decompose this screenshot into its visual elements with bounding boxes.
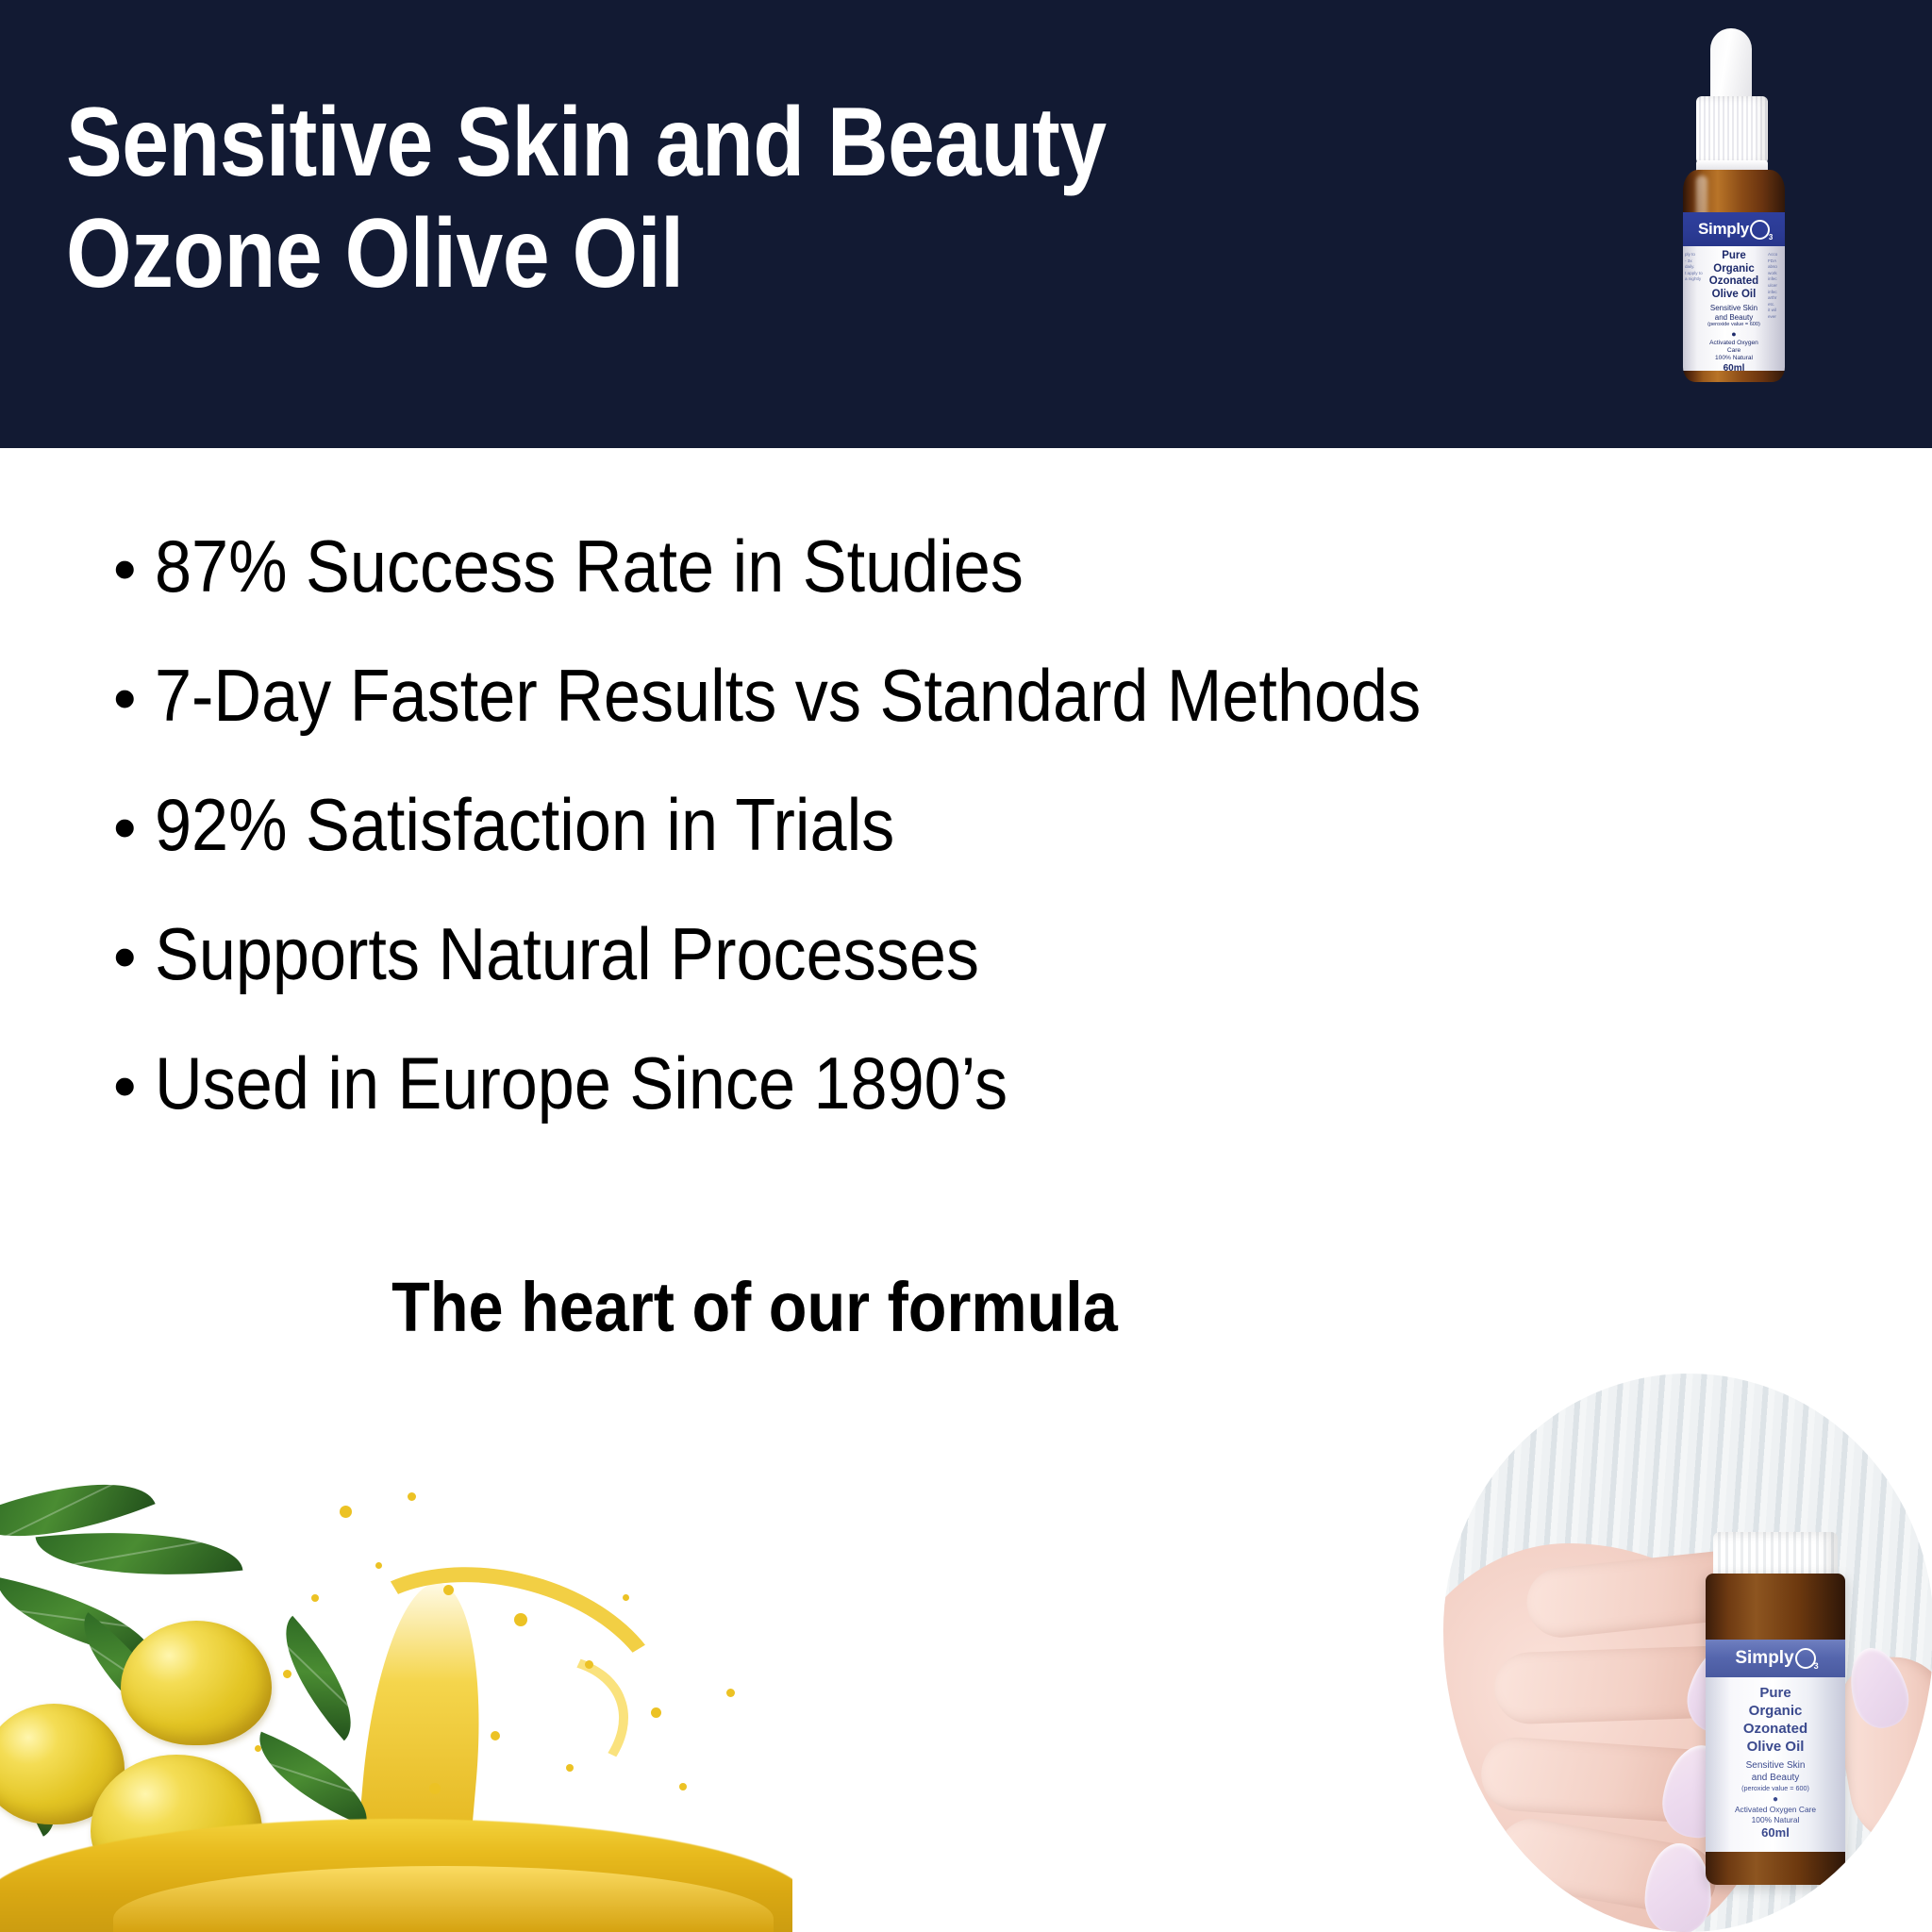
oil-droplet xyxy=(283,1670,291,1678)
oil-droplet xyxy=(443,1585,454,1595)
bottle-label: ply to - 3x daily. t apply to a nightly … xyxy=(1683,246,1785,371)
bullet-marker-icon: • xyxy=(113,657,155,740)
product-bottle-image: Simply 3 ply to - 3x daily. t apply to a… xyxy=(1638,28,1826,368)
dropper-cap xyxy=(1696,96,1768,164)
label-name-4: Olive Oil xyxy=(1704,289,1764,302)
small-brand-logo: Simply 3 xyxy=(1735,1648,1815,1669)
small-bottle-body: Simply 3 Pure Organic Ozonated Olive Oil… xyxy=(1706,1574,1845,1885)
label-side-text-left: ply to - 3x daily. t apply to a nightly xyxy=(1685,252,1703,283)
label-volume: 60ml xyxy=(1704,363,1764,375)
small-label-natural: 100% Natural xyxy=(1706,1815,1845,1825)
bullet-marker-icon: • xyxy=(113,1044,155,1127)
list-item: • Supports Natural Processes xyxy=(113,912,1811,1041)
small-bottle-brand-band: Simply 3 xyxy=(1706,1640,1845,1677)
small-label-volume: 60ml xyxy=(1706,1825,1845,1840)
ozone-o3-icon: 3 xyxy=(1750,220,1770,240)
oil-droplet xyxy=(651,1707,661,1718)
label-subtitle-1: Sensitive Skin xyxy=(1704,304,1764,313)
oil-droplet xyxy=(491,1731,500,1740)
list-item-label: Used in Europe Since 1890’s xyxy=(155,1041,1008,1124)
oil-droplet xyxy=(585,1660,593,1669)
small-label-divider-dot: ● xyxy=(1706,1795,1845,1804)
label-side-text-right: Acco FDA abso work infec ulcer infec art… xyxy=(1768,252,1784,321)
small-label-peroxide: (peroxide value = 600) xyxy=(1706,1784,1845,1792)
list-item: • 7-Day Faster Results vs Standard Metho… xyxy=(113,654,1811,783)
brand-logo: Simply 3 xyxy=(1698,220,1770,240)
bullet-marker-icon: • xyxy=(113,915,155,998)
small-label-name-4: Olive Oil xyxy=(1706,1738,1845,1756)
oil-droplet xyxy=(311,1594,319,1602)
tagline: The heart of our formula xyxy=(75,1262,1434,1353)
list-item-label: 92% Satisfaction in Trials xyxy=(155,783,894,866)
small-label-name-2: Organic xyxy=(1706,1702,1845,1720)
small-label-name-3: Ozonated xyxy=(1706,1720,1845,1738)
label-natural: 100% Natural xyxy=(1704,355,1764,362)
oil-droplet xyxy=(514,1613,527,1626)
small-ozone-o3-icon: 3 xyxy=(1795,1648,1816,1669)
small-label-claim: Activated Oxygen Care xyxy=(1706,1805,1845,1815)
oil-droplet xyxy=(340,1506,352,1518)
oil-droplet xyxy=(679,1783,687,1790)
benefits-list: • 87% Success Rate in Studies • 7-Day Fa… xyxy=(113,525,1811,1171)
slide-canvas: Sensitive Skin and Beauty Ozone Olive Oi… xyxy=(0,0,1932,1932)
small-brand-logo-word: Simply xyxy=(1735,1648,1793,1669)
oil-droplet xyxy=(408,1492,416,1501)
label-center-text: Pure Organic Ozonated Olive Oil Sensitiv… xyxy=(1704,250,1764,375)
hand-photo-circle: Simply 3 Pure Organic Ozonated Olive Oil… xyxy=(1443,1374,1932,1932)
o3-subscript: 3 xyxy=(1769,233,1773,241)
small-label-subtitle-1: Sensitive Skin xyxy=(1706,1760,1845,1773)
olive-splash-image xyxy=(0,1472,792,1932)
small-label-subtitle-2: and Beauty xyxy=(1706,1773,1845,1785)
label-divider-dot: ● xyxy=(1704,330,1764,339)
oil-droplet xyxy=(726,1689,735,1697)
oil-droplet xyxy=(375,1562,382,1569)
brand-logo-word: Simply xyxy=(1698,220,1749,239)
bullet-marker-icon: • xyxy=(113,527,155,610)
label-peroxide: (peroxide value = 600) xyxy=(1704,322,1764,328)
list-item: • Used in Europe Since 1890’s xyxy=(113,1041,1811,1171)
small-o3-subscript: 3 xyxy=(1814,1661,1819,1671)
olive-fruit xyxy=(121,1621,272,1745)
oil-droplet xyxy=(623,1594,629,1601)
label-name-2: Organic xyxy=(1704,263,1764,276)
label-name-1: Pure xyxy=(1704,250,1764,263)
list-item-label: 87% Success Rate in Studies xyxy=(155,525,1024,608)
dropper-bulb-icon xyxy=(1710,28,1752,106)
label-subtitle-2: and Beauty xyxy=(1704,313,1764,323)
page-title: Sensitive Skin and Beauty Ozone Olive Oi… xyxy=(66,87,1380,309)
oil-droplet xyxy=(429,1783,441,1794)
bottle-brand-band: Simply 3 xyxy=(1683,212,1785,246)
list-item-label: Supports Natural Processes xyxy=(155,912,979,995)
oil-droplet xyxy=(566,1764,574,1772)
label-claim: Activated Oxygen Care xyxy=(1704,340,1764,355)
list-item: • 87% Success Rate in Studies xyxy=(113,525,1811,654)
label-name-3: Ozonated xyxy=(1704,275,1764,289)
small-bottle-label: Pure Organic Ozonated Olive Oil Sensitiv… xyxy=(1706,1677,1845,1852)
list-item: • 92% Satisfaction in Trials xyxy=(113,783,1811,912)
bullet-marker-icon: • xyxy=(113,786,155,869)
list-item-label: 7-Day Faster Results vs Standard Methods xyxy=(155,654,1421,737)
small-label-name-1: Pure xyxy=(1706,1677,1845,1702)
bottle-body: Simply 3 ply to - 3x daily. t apply to a… xyxy=(1683,170,1785,382)
